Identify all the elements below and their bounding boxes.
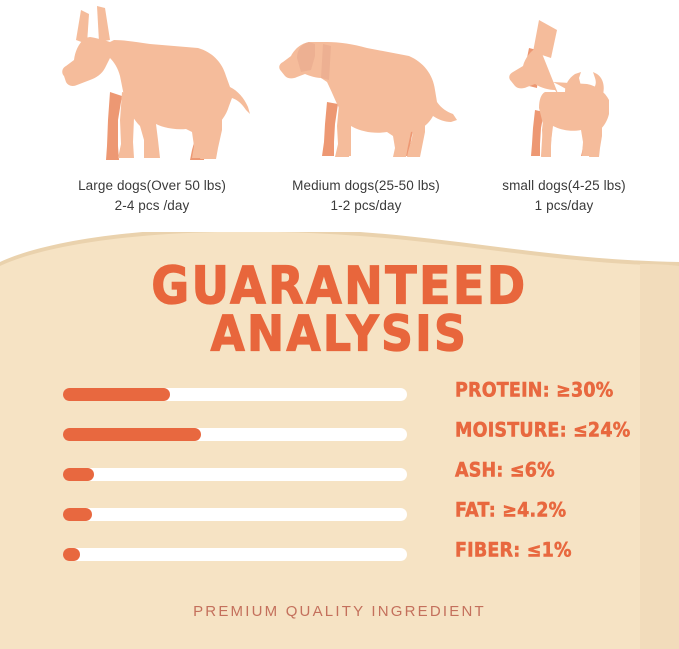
dog-serving-small: 1 pcs/day (474, 196, 654, 216)
dog-card-large: Large dogs(Over 50 lbs) 2-4 pcs /day (42, 0, 262, 215)
bar-track-fiber (63, 548, 407, 561)
nutrient-row-fiber: FIBER: ≤1% (0, 540, 679, 580)
nutrient-row-ash: ASH: ≤6% (0, 460, 679, 500)
bar-track-fat (63, 508, 407, 521)
premium-quality-tagline: PREMIUM QUALITY INGREDIENT (0, 603, 679, 620)
bar-fill-moisture (63, 428, 201, 441)
dog-caption-medium: Medium dogs(25-50 lbs) 1-2 pcs/day (268, 176, 464, 215)
dog-size-medium: Medium dogs(25-50 lbs) (292, 178, 440, 193)
bar-track-ash (63, 468, 407, 481)
dog-caption-small: small dogs(4-25 lbs) 1 pcs/day (474, 176, 654, 215)
nutrient-label-fat: FAT: ≥4.2% (455, 500, 566, 522)
nutrient-label-fiber: FIBER: ≤1% (455, 540, 572, 562)
dog-size-large: Large dogs(Over 50 lbs) (78, 178, 226, 193)
dog-caption-large: Large dogs(Over 50 lbs) 2-4 pcs /day (42, 176, 262, 215)
chihuahua-silhouette-icon (499, 0, 629, 172)
great-dane-silhouette-icon (52, 0, 252, 172)
bar-fill-fat (63, 508, 92, 521)
nutrient-row-protein: PROTEIN: ≥30% (0, 380, 679, 420)
nutrient-list: PROTEIN: ≥30% MOISTURE: ≤24% ASH: ≤6% FA… (0, 380, 679, 580)
feeding-guide-section: Large dogs(Over 50 lbs) 2-4 pcs /day (0, 0, 679, 240)
nutrient-label-moisture: MOISTURE: ≤24% (455, 420, 630, 442)
nutrient-label-ash: ASH: ≤6% (455, 460, 555, 482)
bar-track-moisture (63, 428, 407, 441)
dog-card-medium: Medium dogs(25-50 lbs) 1-2 pcs/day (268, 0, 464, 215)
nutrient-row-moisture: MOISTURE: ≤24% (0, 420, 679, 460)
dog-card-small: small dogs(4-25 lbs) 1 pcs/day (474, 0, 654, 215)
title-line-2: ANALYSIS (0, 311, 679, 358)
title-line-1: GUARANTEED (0, 262, 679, 311)
guaranteed-analysis-panel: GUARANTEED ANALYSIS PROTEIN: ≥30% MOISTU… (0, 232, 679, 649)
labrador-silhouette-icon (271, 0, 461, 172)
page-title: GUARANTEED ANALYSIS (0, 262, 679, 358)
dog-serving-medium: 1-2 pcs/day (268, 196, 464, 216)
nutrient-label-protein: PROTEIN: ≥30% (455, 380, 613, 402)
bar-fill-ash (63, 468, 94, 481)
dog-serving-large: 2-4 pcs /day (42, 196, 262, 216)
dog-size-small: small dogs(4-25 lbs) (502, 178, 626, 193)
bar-fill-fiber (63, 548, 80, 561)
bar-track-protein (63, 388, 407, 401)
nutrient-row-fat: FAT: ≥4.2% (0, 500, 679, 540)
bar-fill-protein (63, 388, 170, 401)
